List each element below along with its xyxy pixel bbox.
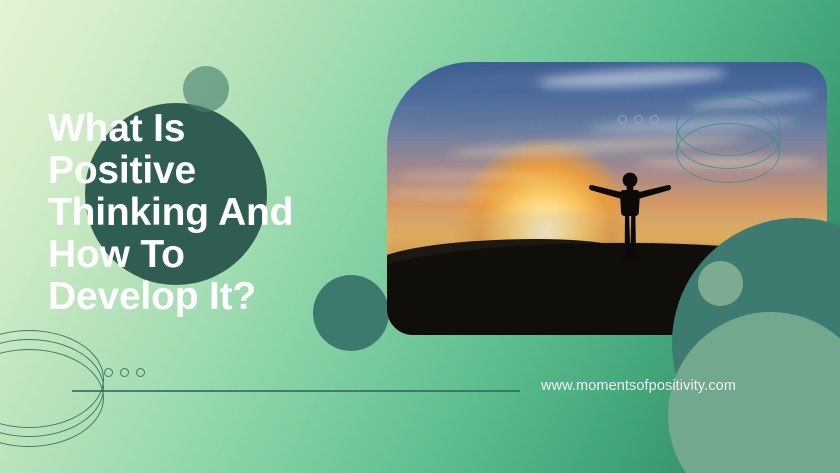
site-url[interactable]: www.momentsofpositivity.com	[541, 378, 736, 394]
dot	[650, 115, 659, 124]
cloud	[387, 190, 507, 197]
stacked-ellipse-rings-icon	[0, 330, 104, 440]
three-ring-dots-icon	[618, 115, 659, 124]
dot	[120, 368, 129, 377]
dot	[104, 368, 113, 377]
dot	[618, 115, 627, 124]
person-silhouette-icon	[587, 163, 673, 259]
dot	[634, 115, 643, 124]
decorative-circle-small-top	[183, 66, 229, 112]
banner-canvas: What Is Positive Thinking And How To Dev…	[0, 0, 840, 473]
cloud	[397, 172, 547, 180]
divider	[72, 390, 520, 392]
dot	[136, 368, 145, 377]
ring-outline	[676, 123, 780, 183]
cloud	[537, 65, 728, 91]
decorative-circle-small-right	[698, 261, 743, 306]
three-ring-dots-icon	[104, 368, 145, 377]
stacked-ellipse-rings-icon	[676, 96, 782, 188]
page-title: What Is Positive Thinking And How To Dev…	[48, 108, 378, 318]
